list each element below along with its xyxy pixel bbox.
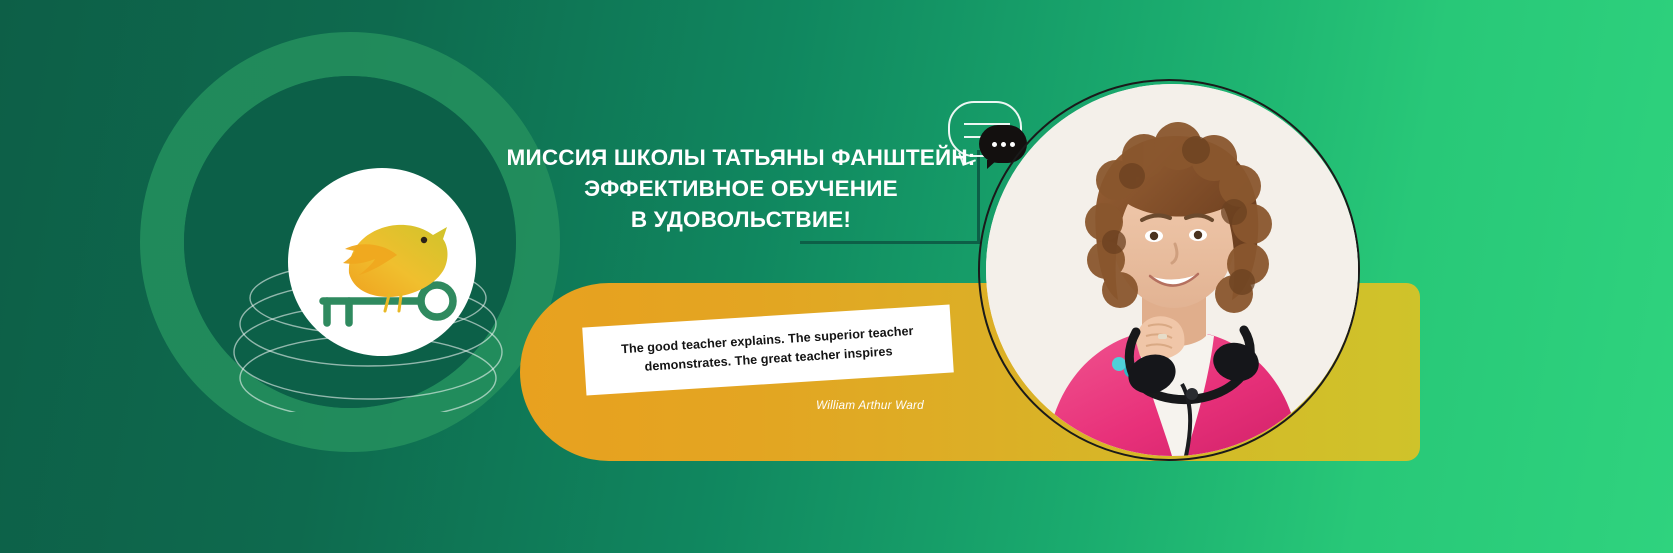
bird-on-key-icon <box>297 177 467 347</box>
headline: МИССИЯ ШКОЛЫ ТАТЬЯНЫ ФАНШТЕЙН: ЭФФЕКТИВН… <box>492 142 990 235</box>
instructor-photo <box>986 84 1358 456</box>
headline-line-3: В УДОВОЛЬСТВИЕ! <box>492 204 990 235</box>
school-logo <box>288 168 476 356</box>
headline-line-2: ЭФФЕКТИВНОЕ ОБУЧЕНИЕ <box>492 173 990 204</box>
headline-bracket-line <box>977 150 980 244</box>
headline-line-1: МИССИЯ ШКОЛЫ ТАТЬЯНЫ ФАНШТЕЙН: <box>492 142 990 173</box>
bubble-dot <box>1001 142 1006 147</box>
quote-text: The good teacher explains. The superior … <box>583 319 953 380</box>
bubble-dot <box>992 142 997 147</box>
bubble-dot <box>1010 142 1015 147</box>
headline-underline <box>800 241 980 244</box>
bubble-tail <box>987 160 997 169</box>
instructor-portrait-illustration <box>986 84 1358 456</box>
promo-banner: МИССИЯ ШКОЛЫ ТАТЬЯНЫ ФАНШТЕЙН: ЭФФЕКТИВН… <box>0 0 1673 553</box>
quote-author: William Arthur Ward <box>770 398 970 412</box>
